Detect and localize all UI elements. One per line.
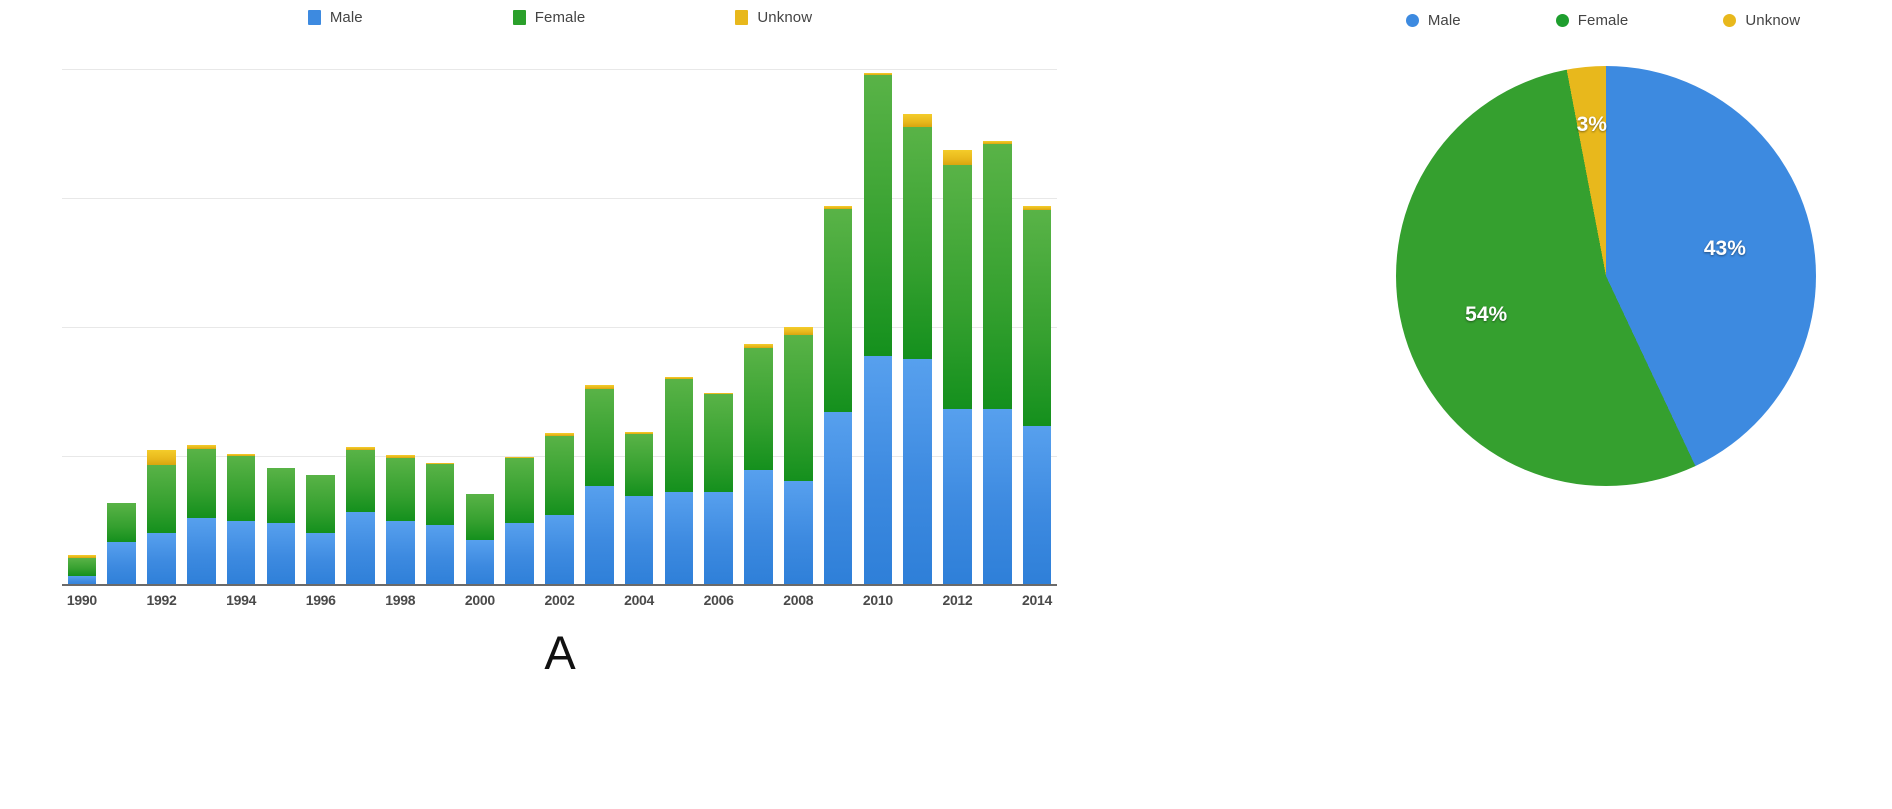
pie-chart-legend: Male Female Unknow xyxy=(1290,0,1892,40)
bar-stack[interactable] xyxy=(585,385,614,586)
x-axis-tick-label: 1998 xyxy=(380,592,420,614)
legend-swatch-unknow-icon xyxy=(735,10,748,25)
pie-slice-label-female: 54% xyxy=(1465,303,1507,327)
bar-column[interactable] xyxy=(181,70,221,586)
x-axis-tick-label: 2014 xyxy=(1017,592,1057,614)
bar-segment-female[interactable] xyxy=(943,165,972,409)
x-axis-tick-label: 2000 xyxy=(460,592,500,614)
bar-segment-male[interactable] xyxy=(704,492,733,586)
bar-segment-female[interactable] xyxy=(585,389,614,486)
bar-segment-male[interactable] xyxy=(386,521,415,586)
bar-segment-female[interactable] xyxy=(107,503,136,541)
x-axis-tick-label: 2006 xyxy=(699,592,739,614)
pie-legend-label-female: Female xyxy=(1578,12,1629,29)
bar-segment-female[interactable] xyxy=(903,127,932,359)
x-axis-tick-label: 2004 xyxy=(619,592,659,614)
bar-segment-female[interactable] xyxy=(147,465,176,533)
bar-chart-x-axis-line xyxy=(62,584,1057,586)
legend-swatch-male-icon xyxy=(308,10,321,25)
bar-chart-x-axis-labels: 1990199119921993199419951996199719981999… xyxy=(62,592,1057,614)
bar-segment-female[interactable] xyxy=(665,379,694,492)
pie-legend-item-unknow[interactable]: Unknow xyxy=(1723,12,1800,29)
bar-segment-unknow[interactable] xyxy=(784,327,813,336)
bar-segment-female[interactable] xyxy=(505,458,534,524)
bar-segment-female[interactable] xyxy=(983,144,1012,409)
bar-chart-bars xyxy=(62,70,1057,586)
bar-stack[interactable] xyxy=(466,494,495,586)
bar-segment-male[interactable] xyxy=(824,412,853,586)
pie-slice-label-male: 43% xyxy=(1704,237,1746,261)
x-axis-tick-label: 2008 xyxy=(778,592,818,614)
x-axis-tick-label: 1994 xyxy=(221,592,261,614)
bar-column[interactable] xyxy=(62,70,102,586)
bar-stack[interactable] xyxy=(784,327,813,586)
pie-legend-swatch-male-icon xyxy=(1406,14,1419,27)
bar-stack[interactable] xyxy=(227,454,256,586)
bar-column[interactable] xyxy=(500,70,540,586)
pie-legend-label-male: Male xyxy=(1428,12,1461,29)
bar-segment-female[interactable] xyxy=(346,450,375,511)
bar-stack[interactable] xyxy=(864,73,893,586)
bar-column[interactable] xyxy=(898,70,938,586)
x-axis-tick-label: 1992 xyxy=(142,592,182,614)
bar-column[interactable] xyxy=(1017,70,1057,586)
bar-segment-male[interactable] xyxy=(943,409,972,586)
panel-a-caption: A xyxy=(0,625,1120,680)
bar-column[interactable] xyxy=(977,70,1017,586)
bar-column[interactable] xyxy=(619,70,659,586)
bar-segment-female[interactable] xyxy=(386,458,415,521)
bar-stack[interactable] xyxy=(147,450,176,586)
bar-stack[interactable] xyxy=(306,475,335,586)
bar-segment-male[interactable] xyxy=(227,521,256,586)
bar-stack[interactable] xyxy=(68,555,97,586)
bar-stack[interactable] xyxy=(267,468,296,586)
bar-stack[interactable] xyxy=(625,432,654,586)
legend-label-unknow: Unknow xyxy=(757,9,812,26)
x-axis-tick-label: 2010 xyxy=(858,592,898,614)
bar-stack[interactable] xyxy=(943,150,972,586)
bar-segment-male[interactable] xyxy=(147,533,176,586)
bar-segment-female[interactable] xyxy=(704,394,733,492)
pie-legend-swatch-female-icon xyxy=(1556,14,1569,27)
bar-segment-male[interactable] xyxy=(306,533,335,586)
bar-stack[interactable] xyxy=(983,141,1012,586)
bar-column[interactable] xyxy=(540,70,580,586)
bar-column[interactable] xyxy=(142,70,182,586)
bar-stack[interactable] xyxy=(107,503,136,586)
bar-chart-legend: Male Female Unknow xyxy=(0,0,1120,34)
bar-segment-unknow[interactable] xyxy=(903,114,932,127)
bar-segment-male[interactable] xyxy=(267,523,296,586)
bar-segment-male[interactable] xyxy=(625,496,654,586)
bar-segment-unknow[interactable] xyxy=(147,450,176,465)
legend-swatch-female-icon xyxy=(513,10,526,25)
bar-segment-female[interactable] xyxy=(625,434,654,496)
x-axis-tick-label: 2002 xyxy=(540,592,580,614)
pie-legend-item-female[interactable]: Female xyxy=(1556,12,1629,29)
bar-column[interactable] xyxy=(579,70,619,586)
bar-column[interactable] xyxy=(341,70,381,586)
bar-column[interactable] xyxy=(858,70,898,586)
bar-segment-female[interactable] xyxy=(267,468,296,523)
legend-label-male: Male xyxy=(330,9,363,26)
bar-segment-female[interactable] xyxy=(824,209,853,412)
bar-segment-female[interactable] xyxy=(864,75,893,356)
bar-segment-male[interactable] xyxy=(784,481,813,586)
bar-segment-female[interactable] xyxy=(426,464,455,524)
bar-segment-unknow[interactable] xyxy=(943,150,972,165)
pie-legend-item-male[interactable]: Male xyxy=(1406,12,1461,29)
bar-segment-female[interactable] xyxy=(1023,210,1052,426)
bar-stack[interactable] xyxy=(903,114,932,586)
bar-segment-female[interactable] xyxy=(187,449,216,518)
x-axis-tick-label: 1996 xyxy=(301,592,341,614)
bar-column[interactable] xyxy=(261,70,301,586)
bar-segment-male[interactable] xyxy=(505,523,534,586)
bar-stack[interactable] xyxy=(545,433,574,586)
bar-stack[interactable] xyxy=(187,445,216,586)
bar-segment-female[interactable] xyxy=(545,436,574,514)
bar-segment-female[interactable] xyxy=(784,335,813,480)
bar-segment-male[interactable] xyxy=(426,525,455,586)
bar-column[interactable] xyxy=(938,70,978,586)
bar-column[interactable] xyxy=(380,70,420,586)
figure-root: Male Female Unknow 0175350525700 1990199… xyxy=(0,0,1892,809)
bar-segment-female[interactable] xyxy=(466,494,495,540)
bar-segment-male[interactable] xyxy=(864,356,893,586)
bar-stack[interactable] xyxy=(704,393,733,586)
x-axis-tick-label: 2012 xyxy=(938,592,978,614)
panel-a-bar-chart: Male Female Unknow 0175350525700 1990199… xyxy=(0,0,1290,809)
bar-segment-male[interactable] xyxy=(665,492,694,586)
bar-segment-male[interactable] xyxy=(1023,426,1052,586)
legend-item-male[interactable]: Male xyxy=(308,9,363,26)
bar-column[interactable] xyxy=(739,70,779,586)
x-axis-tick-label: 1990 xyxy=(62,592,102,614)
bar-segment-male[interactable] xyxy=(545,515,574,587)
pie-circle[interactable]: 43%54%3% xyxy=(1396,66,1816,486)
bar-stack[interactable] xyxy=(346,447,375,586)
bar-column[interactable] xyxy=(420,70,460,586)
bar-stack[interactable] xyxy=(386,455,415,586)
panel-b-pie-chart: Male Female Unknow 43%54%3% B xyxy=(1290,0,1892,809)
bar-segment-male[interactable] xyxy=(744,470,773,586)
bar-segment-male[interactable] xyxy=(107,542,136,586)
pie-legend-swatch-unknow-icon xyxy=(1723,14,1736,27)
legend-item-unknow[interactable]: Unknow xyxy=(735,9,812,26)
bar-segment-male[interactable] xyxy=(903,359,932,586)
bar-segment-male[interactable] xyxy=(983,409,1012,586)
bar-stack[interactable] xyxy=(744,344,773,586)
bar-segment-female[interactable] xyxy=(68,558,97,576)
bar-segment-male[interactable] xyxy=(585,486,614,586)
bar-segment-female[interactable] xyxy=(744,348,773,470)
bar-stack[interactable] xyxy=(824,206,853,586)
bar-stack[interactable] xyxy=(426,463,455,586)
bar-segment-male[interactable] xyxy=(346,512,375,586)
bar-column[interactable] xyxy=(818,70,858,586)
bar-segment-male[interactable] xyxy=(187,518,216,586)
bar-stack[interactable] xyxy=(1023,206,1052,586)
bar-segment-male[interactable] xyxy=(466,540,495,586)
bar-segment-female[interactable] xyxy=(306,475,335,532)
pie-legend-label-unknow: Unknow xyxy=(1745,12,1800,29)
bar-stack[interactable] xyxy=(505,457,534,586)
bar-column[interactable] xyxy=(699,70,739,586)
bar-chart-plot-area: 0175350525700 xyxy=(62,70,1057,586)
bar-column[interactable] xyxy=(659,70,699,586)
pie-slice-label-unknow: 3% xyxy=(1577,113,1607,137)
bar-column[interactable] xyxy=(221,70,261,586)
bar-stack[interactable] xyxy=(665,377,694,586)
legend-item-female[interactable]: Female xyxy=(513,9,586,26)
bar-column[interactable] xyxy=(460,70,500,586)
bar-column[interactable] xyxy=(102,70,142,586)
bar-column[interactable] xyxy=(778,70,818,586)
bar-column[interactable] xyxy=(301,70,341,586)
legend-label-female: Female xyxy=(535,9,586,26)
bar-segment-female[interactable] xyxy=(227,456,256,521)
pie-chart-area: 43%54%3% xyxy=(1396,66,1816,486)
